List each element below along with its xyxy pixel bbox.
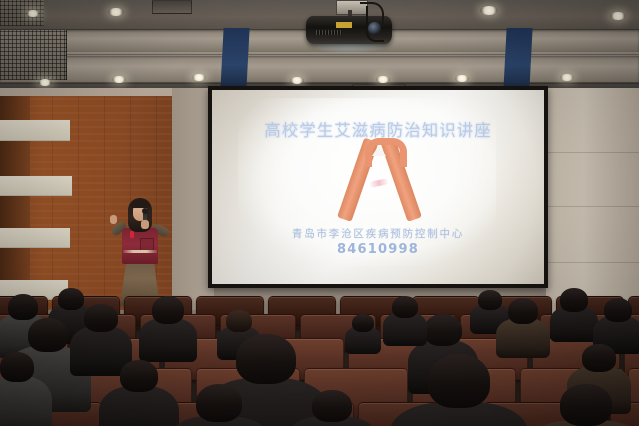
projection-screen: 高校学生艾滋病防治知识讲座 青岛市李沧区疾病预防控制中心 84610998 <box>212 90 544 284</box>
audience-member-head <box>196 384 242 422</box>
audience-member-head <box>28 318 68 352</box>
downlight-1 <box>26 10 40 17</box>
audience-member-head <box>424 314 462 346</box>
downlight-8 <box>290 77 304 84</box>
wall-decor-bar-1 <box>0 120 70 141</box>
microphone-head <box>142 208 148 214</box>
audience-member-head <box>428 354 490 408</box>
audience-member-head <box>0 352 34 382</box>
projector-cable-loop <box>360 2 384 26</box>
projector-vent-grill <box>316 30 342 35</box>
downlight-4 <box>610 12 626 20</box>
wall-decor-bar-3 <box>0 228 70 248</box>
ceiling-accent-strip-left <box>220 28 249 90</box>
audience-member-head <box>352 314 374 332</box>
projector-label <box>336 22 352 28</box>
audience-member-head <box>312 390 352 422</box>
audience-member-head <box>236 334 296 384</box>
audience-member-body <box>0 376 52 426</box>
audience-member-body <box>139 318 197 362</box>
downlight-6 <box>112 76 126 83</box>
speaker-red-ribbon-pin <box>130 231 134 238</box>
downlight-11 <box>560 74 574 81</box>
audience-member-head <box>120 360 158 392</box>
audience-member-head <box>582 344 616 372</box>
projection-screen-frame: 高校学生艾滋病防治知识讲座 青岛市李沧区疾病预防控制中心 84610998 <box>208 86 548 288</box>
speaker-right-hand <box>141 220 149 229</box>
audience-member-head <box>8 294 38 320</box>
wall-decor-bar-2 <box>0 176 72 196</box>
downlight-3 <box>480 6 498 15</box>
audience-member-head <box>58 288 84 310</box>
downlight-9 <box>376 76 390 83</box>
audience-member-body <box>496 318 550 358</box>
auditorium-photo: 高校学生艾滋病防治知识讲座 青岛市李沧区疾病预防控制中心 84610998 <box>0 0 639 426</box>
audience-member-head <box>560 288 588 312</box>
audience-member-head <box>84 304 118 332</box>
audience-seating-area <box>0 288 639 426</box>
speaker-fringe <box>131 200 150 208</box>
screen-vignette <box>212 90 544 284</box>
audience-member-head <box>478 290 502 310</box>
audience-member-head <box>508 298 538 324</box>
downlight-5 <box>38 79 52 86</box>
acoustic-panel-left <box>0 30 67 80</box>
audience-member-body <box>99 386 179 426</box>
audience-member-head <box>152 296 184 324</box>
downlight-7 <box>192 74 206 81</box>
audience-member-head <box>226 310 252 332</box>
speaker-left-hand-gesture <box>110 215 117 224</box>
audience-member-head <box>560 384 612 426</box>
ceiling-beam-lower <box>0 56 639 82</box>
ceiling-vent-left <box>152 0 192 14</box>
speaker-vest-reflective-stripe <box>123 250 157 253</box>
ceiling-accent-strip-right <box>503 28 532 90</box>
downlight-2 <box>108 8 124 16</box>
audience-member-head <box>604 298 632 322</box>
downlight-10 <box>455 75 469 82</box>
audience-member-head <box>392 296 418 318</box>
ceiling-projector <box>300 0 398 48</box>
